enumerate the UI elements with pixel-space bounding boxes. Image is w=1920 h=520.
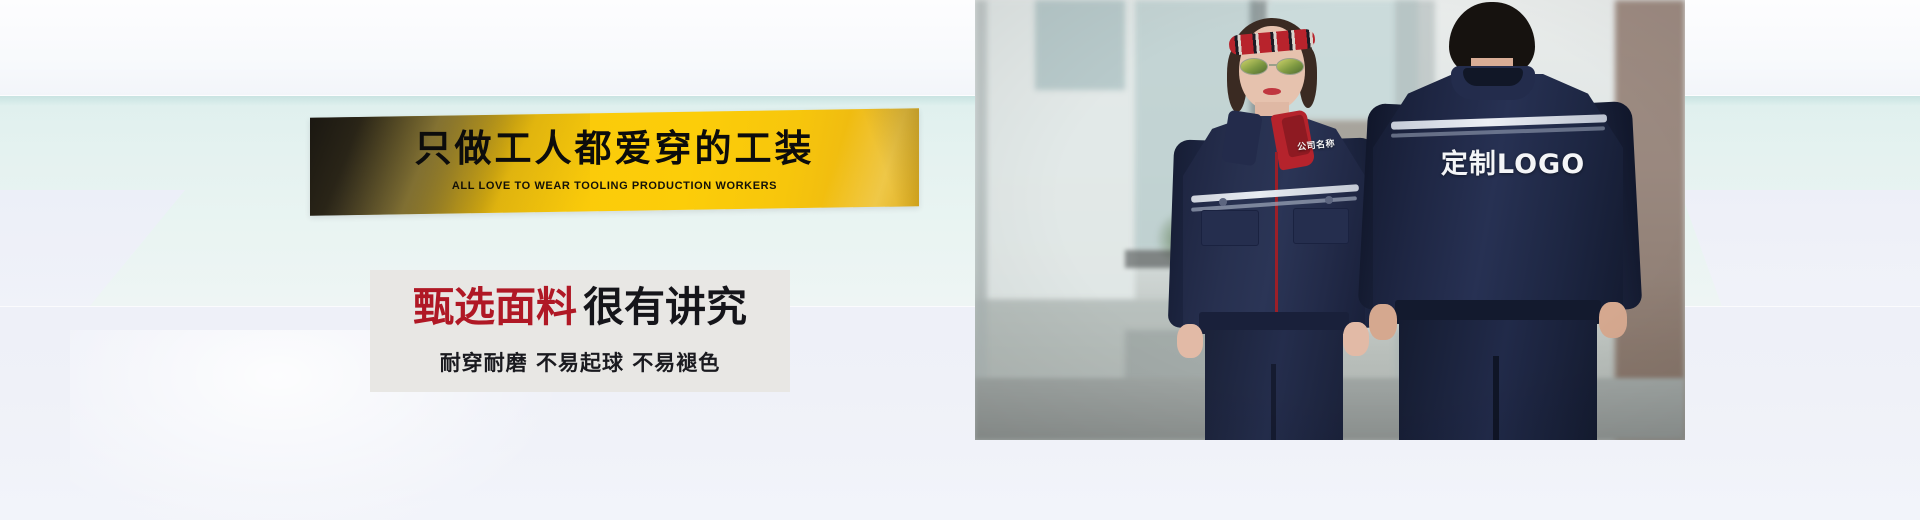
headline-card: 甄选面料很有讲究 耐穿耐磨 不易起球 不易褪色 xyxy=(370,270,790,392)
sunglasses-lens-right xyxy=(1276,58,1304,75)
model-front-trouser-split xyxy=(1271,364,1276,440)
model-front-lips xyxy=(1263,88,1281,95)
model-front-snap-button xyxy=(1219,198,1227,206)
ribbon-title: 只做工人都爱穿的工装 xyxy=(415,130,815,167)
ribbon-subtitle: ALL LOVE TO WEAR TOOLING PRODUCTION WORK… xyxy=(452,180,777,192)
banner-root: 只做工人都爱穿的工装 ALL LOVE TO WEAR TOOLING PROD… xyxy=(0,0,1920,520)
model-front-zipper xyxy=(1275,152,1278,328)
model-back-jacket xyxy=(1373,74,1623,320)
product-photo: 公司名称 定制LOGO xyxy=(975,0,1685,440)
model-back-hand-left xyxy=(1369,304,1397,340)
model-front-snap-button xyxy=(1325,196,1333,204)
ribbon-banner: 只做工人都爱穿的工装 ALL LOVE TO WEAR TOOLING PROD… xyxy=(310,108,919,216)
garment-custom-logo: 定制LOGO xyxy=(1363,142,1663,181)
ribbon-text-group: 只做工人都爱穿的工装 ALL LOVE TO WEAR TOOLING PROD… xyxy=(310,113,919,211)
photo-building-pane xyxy=(1035,0,1125,90)
photo-building-edge-left xyxy=(975,0,987,440)
model-front-pocket-right xyxy=(1293,208,1349,244)
model-back-collar-inner xyxy=(1463,68,1523,86)
headline-accent-text: 甄选面料 xyxy=(413,283,577,331)
model-front-pocket-left xyxy=(1201,210,1259,246)
sunglasses-icon xyxy=(1239,58,1305,75)
headline-main-line: 甄选面料很有讲究 xyxy=(413,287,747,328)
model-front-hand-left xyxy=(1177,324,1203,358)
model-back-male: 定制LOGO xyxy=(1363,0,1663,440)
model-back-trouser-split xyxy=(1493,356,1499,440)
headline-sub-line: 耐穿耐磨 不易起球 不易褪色 xyxy=(440,347,721,377)
model-back-hand-right xyxy=(1599,302,1627,338)
headline-rest-text: 很有讲究 xyxy=(583,283,747,331)
sunglasses-lens-left xyxy=(1240,58,1268,75)
model-front-female: 公司名称 xyxy=(1147,12,1397,440)
